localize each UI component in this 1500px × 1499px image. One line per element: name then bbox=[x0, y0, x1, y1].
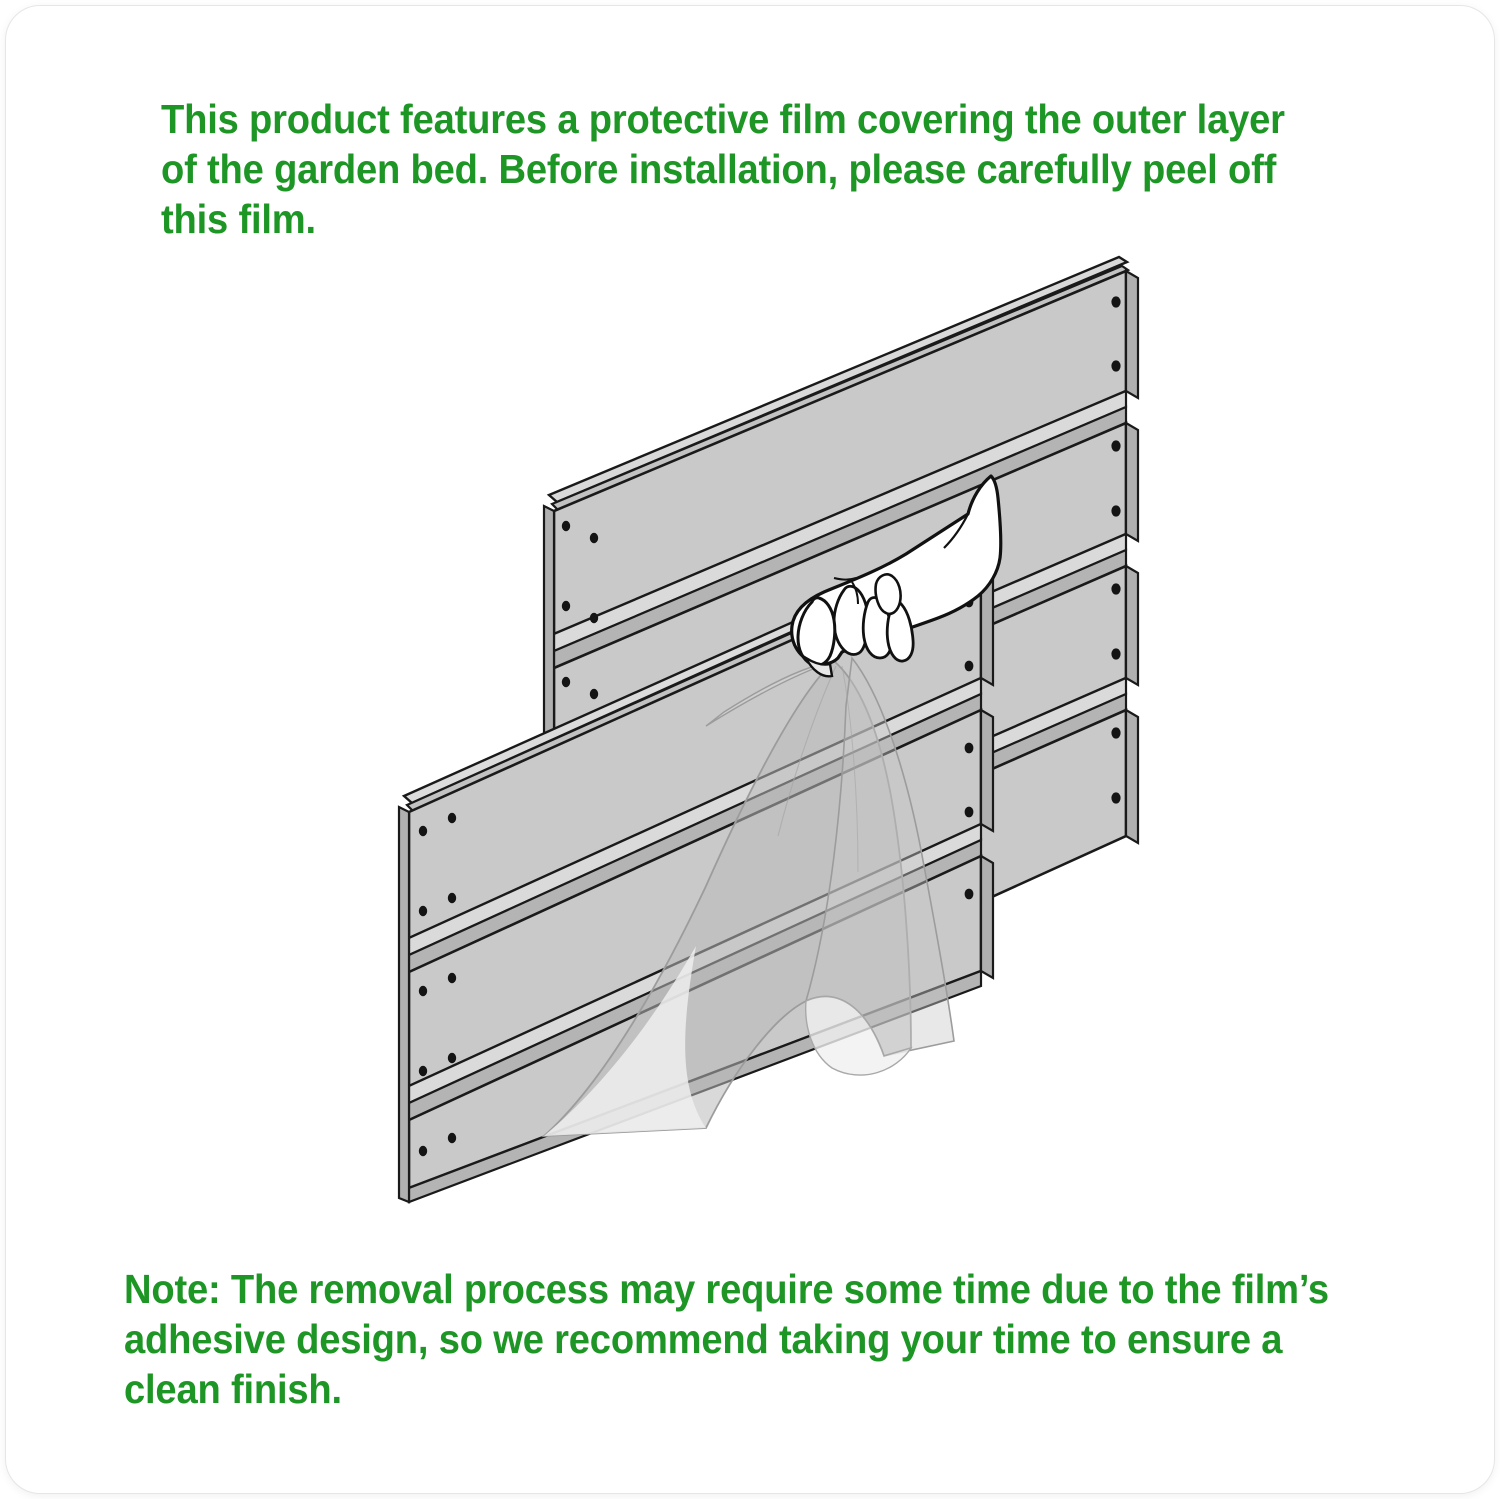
front-panel-right-step-2 bbox=[981, 710, 993, 831]
back-panel-right-step-1 bbox=[1126, 271, 1138, 398]
front-panel-right-step-3 bbox=[981, 856, 993, 978]
back-panel-right-step-3 bbox=[1126, 566, 1138, 685]
note-text: Note: The removal process may require so… bbox=[124, 1264, 1361, 1414]
front-panel-left-edge bbox=[399, 807, 409, 1202]
hand-finger-little bbox=[876, 574, 901, 613]
back-panel-right-step-2 bbox=[1126, 423, 1138, 541]
back-panel-right-step-4 bbox=[1126, 710, 1138, 843]
instruction-card: This product features a protective film … bbox=[6, 6, 1494, 1493]
